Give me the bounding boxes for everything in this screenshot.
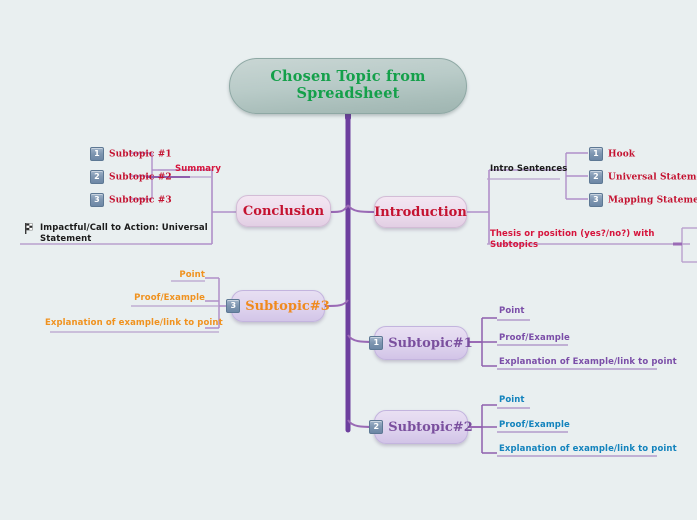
branch-node-subtopic3[interactable]: 3Subtopic#3 — [231, 290, 325, 322]
badge-number: 2 — [90, 170, 104, 184]
badge-number: 1 — [589, 147, 603, 161]
central-node[interactable]: Chosen Topic from Spreadsheet — [229, 58, 467, 114]
leaf-conclusion-subtopic-1-label: Subtopic #1 — [109, 150, 172, 160]
leaf-call-to-action-line2: Statement — [40, 234, 91, 244]
leaf-st3-explanation[interactable]: Explanation of example/link to point — [45, 318, 205, 328]
leaf-st2-point[interactable]: Point — [499, 395, 525, 405]
leaf-summary[interactable]: Summary — [175, 164, 221, 174]
branch-label-subtopic3: 3Subtopic#3 — [226, 299, 330, 314]
leaf-thesis-line1: Thesis or position (yes?/no?) with — [490, 229, 655, 239]
branch-label-subtopic2-text: Subtopic#2 — [388, 420, 473, 435]
mindmap-canvas: Chosen Topic from Spreadsheet Introducti… — [0, 0, 697, 520]
badge-number: 3 — [589, 193, 603, 207]
leaf-st1-proof-example[interactable]: Proof/Example — [499, 333, 570, 343]
central-label-line1: Chosen Topic from — [270, 68, 425, 85]
badge-number: 2 — [369, 420, 383, 434]
branch-label-subtopic2: 2Subtopic#2 — [369, 420, 473, 435]
leaf-conclusion-subtopic-3[interactable]: 3Subtopic #3 — [90, 193, 172, 207]
leaf-conclusion-subtopic-2[interactable]: 2Subtopic #2 — [90, 170, 172, 184]
leaf-call-to-action[interactable]: Impactful/Call to Action: Universal Stat… — [40, 223, 208, 246]
leaf-st2-explanation[interactable]: Explanation of example/link to point — [499, 444, 677, 454]
leaf-universal-statement[interactable]: 2Universal Statement — [589, 170, 697, 184]
branch-node-conclusion[interactable]: Conclusion — [236, 195, 331, 227]
leaf-st1-explanation[interactable]: Explanation of Example/link to point — [499, 357, 677, 367]
leaf-st3-point[interactable]: Point — [105, 270, 205, 280]
leaf-thesis-line2: Subtopics — [490, 240, 538, 250]
branch-label-subtopic1-text: Subtopic#1 — [388, 336, 473, 351]
badge-number: 3 — [226, 299, 240, 313]
leaf-conclusion-subtopic-2-label: Subtopic #2 — [109, 173, 172, 183]
leaf-thesis-position[interactable]: Thesis or position (yes?/no?) with Subto… — [490, 229, 655, 252]
leaf-call-to-action-line1: Impactful/Call to Action: Universal — [40, 223, 208, 233]
branch-label-subtopic1: 1Subtopic#1 — [369, 336, 473, 351]
leaf-hook-label: Hook — [608, 150, 635, 160]
leaf-universal-statement-label: Universal Statement — [608, 173, 697, 183]
badge-number: 2 — [589, 170, 603, 184]
badge-number: 1 — [369, 336, 383, 350]
branch-node-subtopic1[interactable]: 1Subtopic#1 — [374, 326, 468, 360]
leaf-mapping-statement[interactable]: 3Mapping Statement — [589, 193, 697, 207]
branch-node-subtopic2[interactable]: 2Subtopic#2 — [374, 410, 468, 444]
leaf-mapping-statement-label: Mapping Statement — [608, 196, 697, 206]
branch-node-introduction[interactable]: Introduction — [374, 196, 467, 228]
branch-label-conclusion: Conclusion — [243, 204, 324, 219]
central-node-label: Chosen Topic from Spreadsheet — [270, 69, 425, 102]
leaf-intro-sentences[interactable]: Intro Sentences — [490, 164, 567, 174]
leaf-conclusion-subtopic-1[interactable]: 1Subtopic #1 — [90, 147, 172, 161]
leaf-hook[interactable]: 1Hook — [589, 147, 635, 161]
leaf-conclusion-subtopic-3-label: Subtopic #3 — [109, 196, 172, 206]
checkered-flag-icon — [24, 222, 37, 235]
leaf-st1-point[interactable]: Point — [499, 306, 525, 316]
central-label-line2: Spreadsheet — [296, 85, 399, 102]
branch-label-subtopic3-text: Subtopic#3 — [245, 299, 330, 314]
leaf-st3-proof-example[interactable]: Proof/Example — [85, 293, 205, 303]
badge-number: 3 — [90, 193, 104, 207]
badge-number: 1 — [90, 147, 104, 161]
branch-label-introduction: Introduction — [374, 205, 467, 220]
leaf-st2-proof-example[interactable]: Proof/Example — [499, 420, 570, 430]
